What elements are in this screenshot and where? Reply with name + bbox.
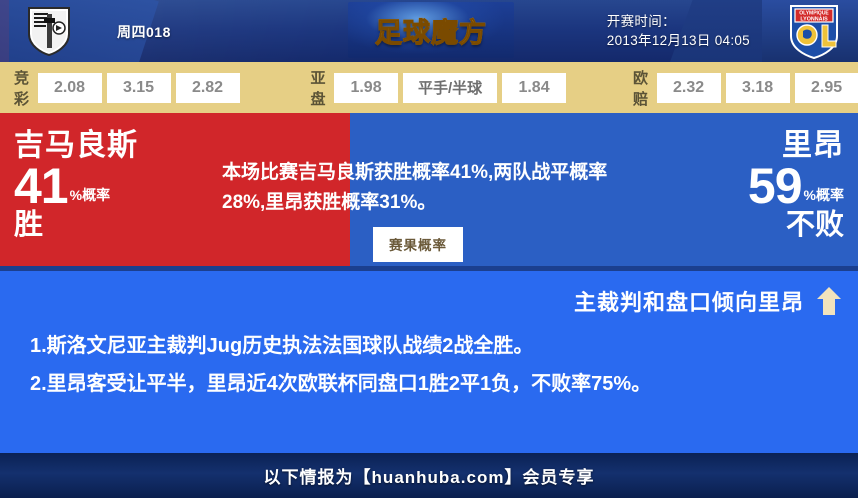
odds-group-yapan: 亚盘 1.98 平手/半球 1.84 [311,67,572,109]
away-probability-stat: 里昂 59 %概率 不败 [748,131,844,240]
probability-description: 本场比赛吉马良斯获胜概率41%,两队战平概率28%,里昂获胜概率31%。 [222,158,626,218]
home-team-name: 吉马良斯 [14,131,138,161]
away-outcome-label: 不败 [748,211,844,240]
odds-cell-oupei-away[interactable]: 2.95 [795,73,858,103]
odds-cell-jingcai-draw[interactable]: 3.15 [107,73,171,103]
insight-headline-row: 主裁判和盘口倾向里昂 [574,285,842,317]
odds-label-oupei: 欧赔 [633,67,649,109]
odds-cell-oupei-home[interactable]: 2.32 [657,73,721,103]
header-bar: 周四018 足球魔方 开赛时间： 2013年12月13日 04:05 OLYMP… [0,0,858,62]
home-percent-suffix: %概率 [70,188,110,209]
svg-text:LYONNAIS: LYONNAIS [800,16,828,22]
kickoff-label: 开赛时间： [607,12,750,31]
odds-label-yapan: 亚盘 [311,67,327,109]
odds-label-jingcai: 竞彩 [14,67,30,109]
insight-headline: 主裁判和盘口倾向里昂 [574,285,804,317]
kickoff-time: 开赛时间： 2013年12月13日 04:05 [607,12,750,50]
probability-section: 吉马良斯 41 %概率 胜 里昂 59 %概率 不败 本场比赛吉马良斯获胜概率4… [0,113,858,266]
footer-text: 以下情报为【huanhuba.com】会员专享 [264,463,595,488]
away-percent-suffix: %概率 [804,188,844,209]
insight-list: 1.斯洛文尼亚主裁判Jug历史执法法国球队战绩2战全胜。 2.里昂客受让平半，里… [30,327,830,403]
tab-result-probability[interactable]: 赛果概率 [373,227,463,262]
odds-group-jingcai: 竞彩 2.08 3.15 2.82 [14,67,245,109]
away-team-name: 里昂 [748,131,844,161]
round-label: 周四018 [117,22,171,42]
odds-cell-yapan-away[interactable]: 1.84 [502,73,566,103]
odds-bar: 竞彩 2.08 3.15 2.82 亚盘 1.98 平手/半球 1.84 欧赔 … [0,62,858,113]
match-preview-card: 周四018 足球魔方 开赛时间： 2013年12月13日 04:05 OLYMP… [0,0,858,498]
insight-section: 主裁判和盘口倾向里昂 1.斯洛文尼亚主裁判Jug历史执法法国球队战绩2战全胜。 … [0,271,858,453]
odds-cell-oupei-draw[interactable]: 3.18 [726,73,790,103]
odds-cell-yapan-handicap[interactable]: 平手/半球 [403,73,497,103]
away-team-crest-icon: OLYMPIQUE LYONNAIS [786,3,842,59]
away-percent-value: 59 [748,163,802,209]
arrow-up-icon [816,286,842,316]
brand-text: 足球魔方 [375,11,487,50]
odds-cell-jingcai-away[interactable]: 2.82 [176,73,240,103]
brand-logo: 足球魔方 [348,2,514,58]
list-item: 1.斯洛文尼亚主裁判Jug历史执法法国球队战绩2战全胜。 [30,327,830,365]
home-probability-stat: 吉马良斯 41 %概率 胜 [14,131,138,240]
kickoff-value: 2013年12月13日 04:05 [607,31,750,50]
odds-cell-jingcai-home[interactable]: 2.08 [38,73,102,103]
list-item: 2.里昂客受让平半，里昂近4次欧联杯同盘口1胜2平1负，不败率75%。 [30,365,830,403]
home-percent-value: 41 [14,163,68,209]
odds-group-oupei: 欧赔 2.32 3.18 2.95 [633,67,858,109]
home-outcome-label: 胜 [14,211,138,240]
odds-cell-yapan-home[interactable]: 1.98 [334,73,398,103]
home-team-crest-icon [22,4,76,58]
footer-bar: 以下情报为【huanhuba.com】会员专享 [0,453,858,498]
